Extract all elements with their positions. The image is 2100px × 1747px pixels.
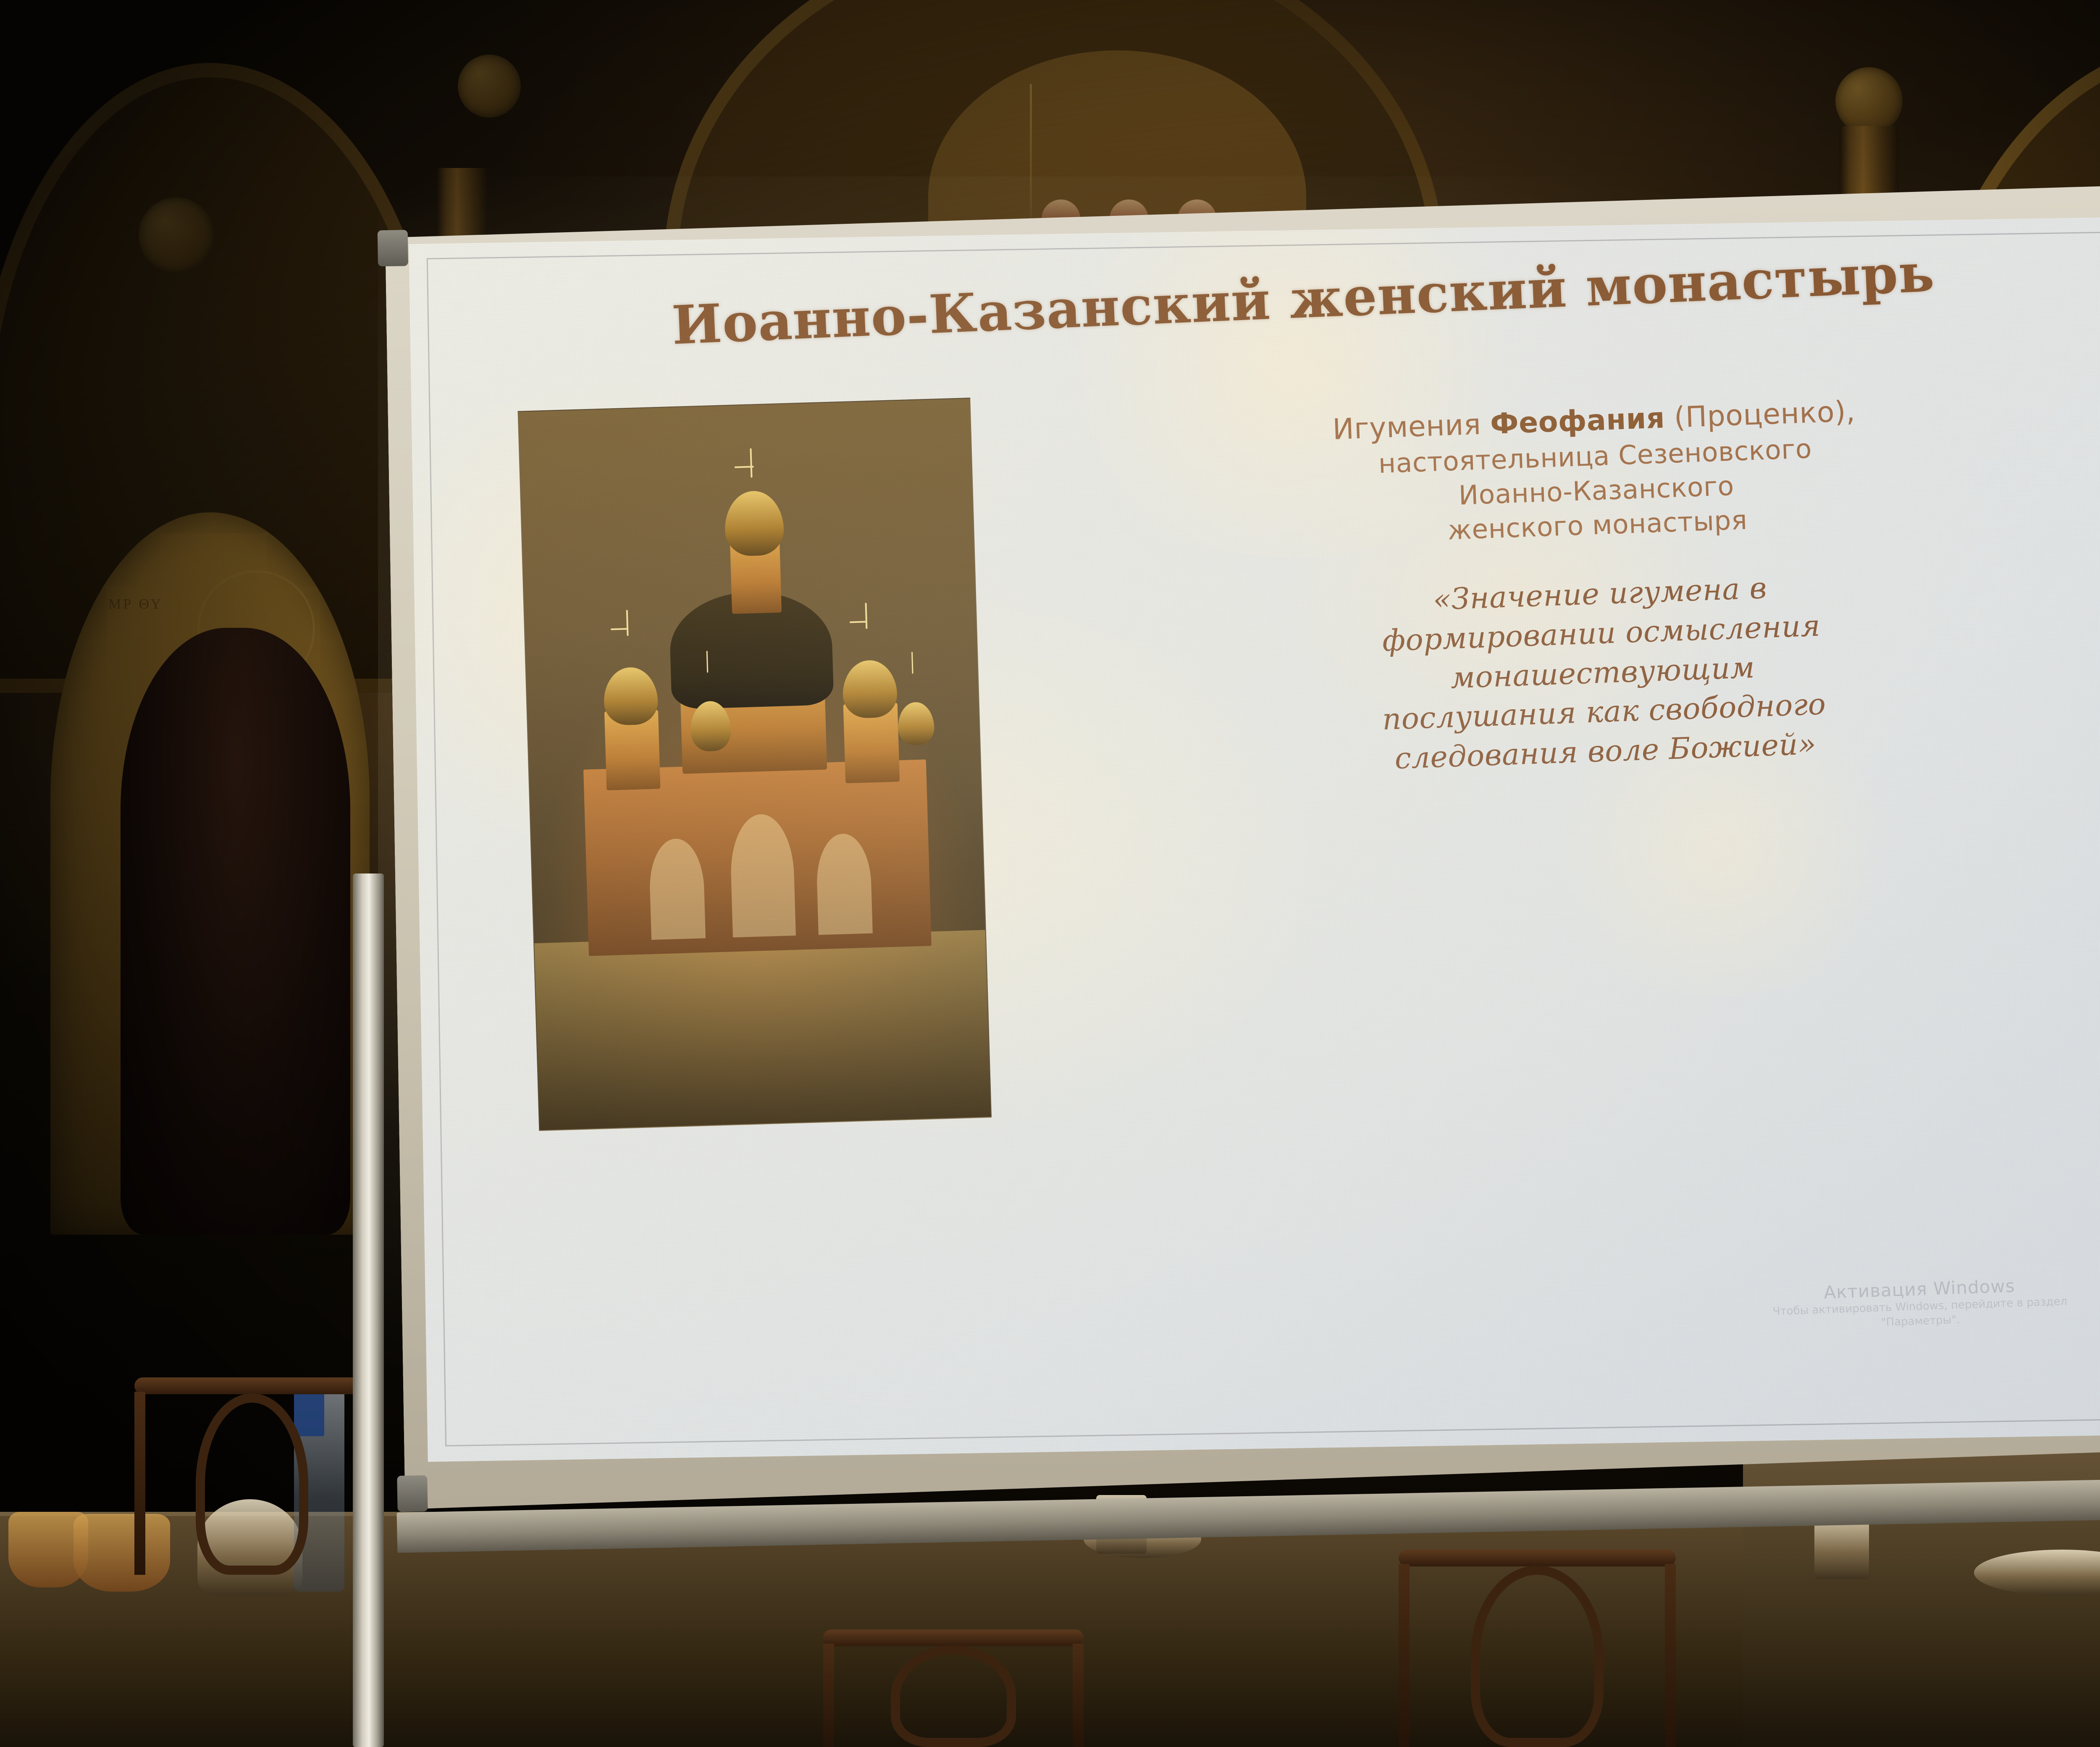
photo-onion-dome (724, 491, 785, 557)
easel-post (353, 873, 384, 1747)
whiteboard-easel[interactable]: Иоанно-Казанский женский монастырь (385, 183, 2100, 1509)
frame-corner-cap (397, 1475, 428, 1512)
projected-slide: Иоанно-Казанский женский монастырь (409, 216, 2100, 1462)
frame-corner-cap (378, 230, 408, 266)
photograph-scene: МР ΘΥ СТЫИ ІѠАННЪ ПРТЧА (0, 0, 2100, 1747)
icon-left-inscription: МР ΘΥ (108, 596, 163, 612)
photo-cross-icon (912, 652, 914, 674)
wooden-chair (823, 1629, 1084, 1747)
photo-onion-dome (842, 660, 898, 719)
abbess-suffix: (Проценко), (1664, 395, 1856, 435)
wooden-chair (1399, 1550, 1676, 1747)
abbess-name: Феофания (1490, 401, 1665, 441)
slide-body-text: Игумения Феофания (Проценко), настоятель… (1098, 385, 2100, 788)
photo-onion-dome (898, 702, 935, 746)
abbess-prefix: Игумения (1332, 407, 1491, 446)
photo-ground (535, 930, 991, 1131)
photo-cross-icon (750, 448, 753, 477)
icon-theotokos (50, 512, 370, 1235)
carved-rosette-icon (458, 55, 521, 118)
windows-activation-watermark: Активация Windows Чтобы активировать Win… (1772, 1274, 2068, 1334)
carved-rosette-icon (139, 197, 214, 273)
photo-cross-icon (626, 610, 629, 636)
photo-cross-icon (850, 621, 867, 623)
photo-cross-icon (611, 628, 628, 630)
wooden-chair (134, 1377, 370, 1575)
photo-onion-dome (603, 667, 659, 726)
photo-cross-icon (865, 603, 868, 629)
slide-quote: «Значение игумена в формировании осмысле… (1104, 557, 2100, 788)
carved-rosette-icon (1835, 67, 1903, 134)
monastery-photo (518, 398, 992, 1131)
